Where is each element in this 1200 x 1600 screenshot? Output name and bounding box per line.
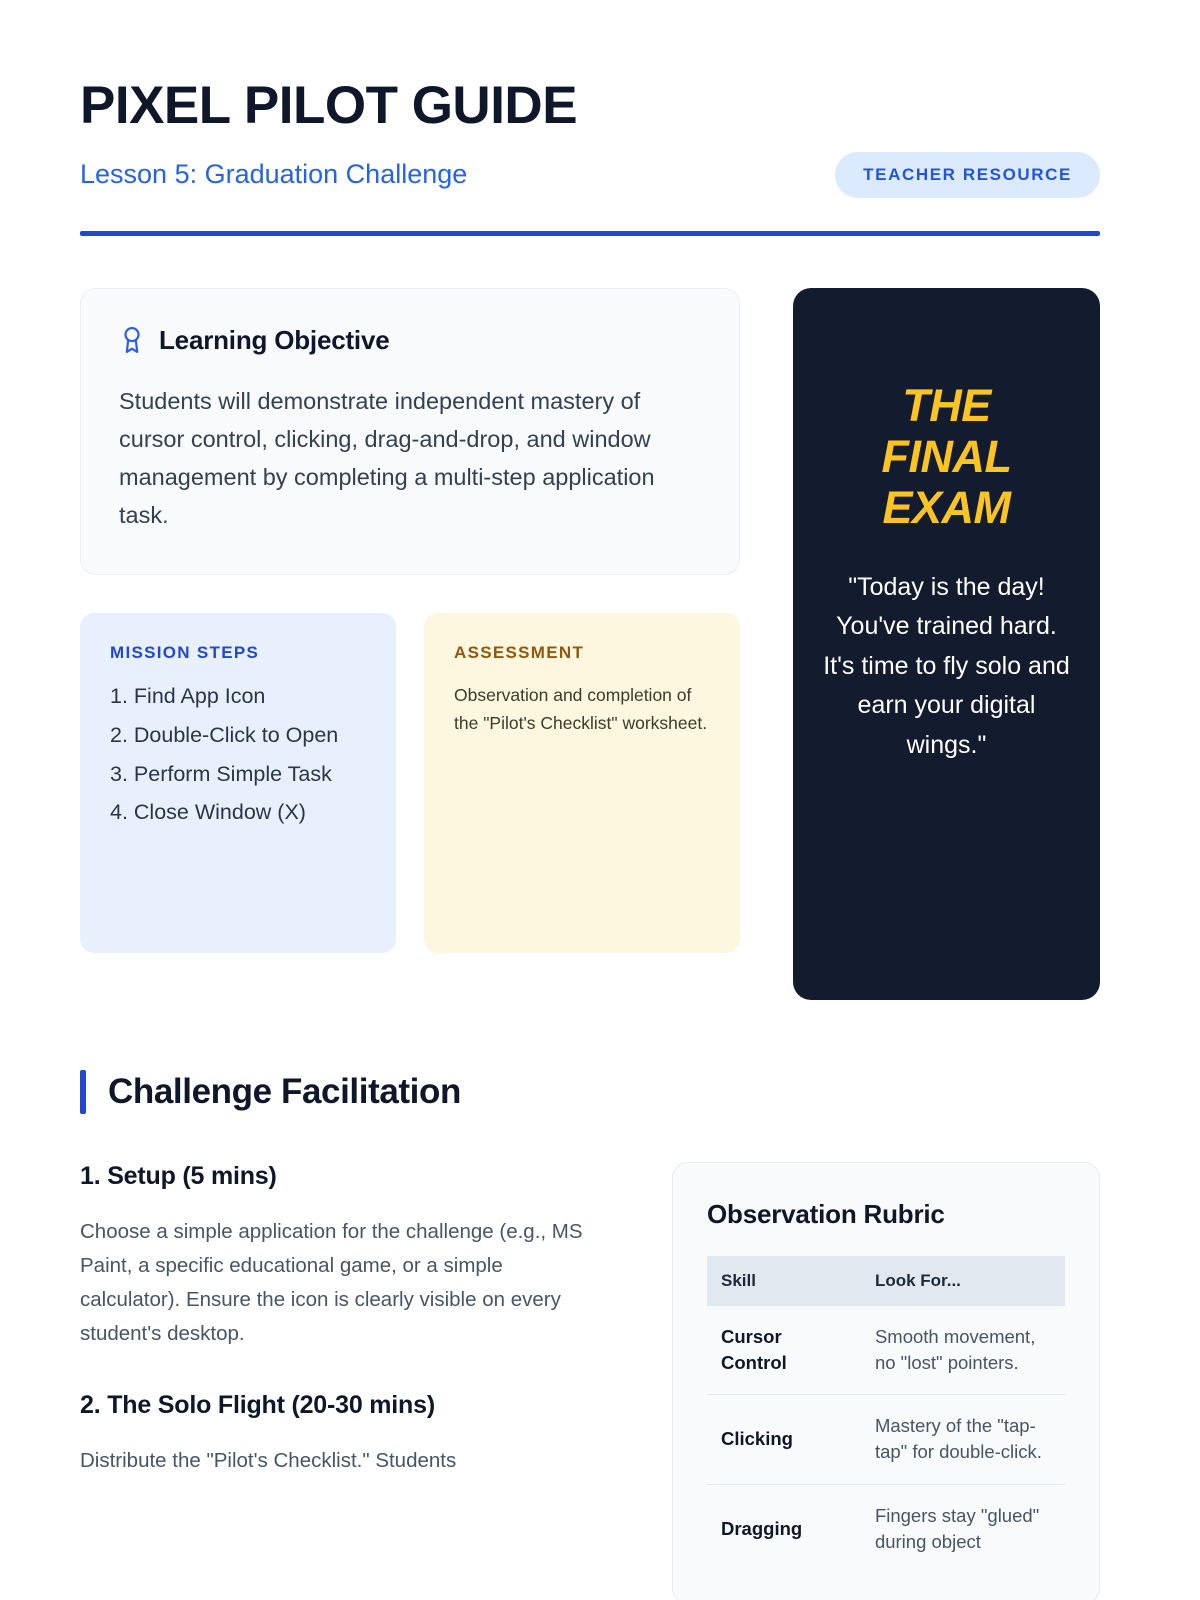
- table-row: Clicking Mastery of the "tap-tap" for do…: [707, 1395, 1065, 1485]
- lesson-subtitle: Lesson 5: Graduation Challenge: [80, 158, 467, 190]
- rubric-table: Skill Look For... Cursor Control Smooth …: [707, 1256, 1065, 1574]
- column-header-skill: Skill: [707, 1256, 861, 1306]
- list-item: 3. Perform Simple Task: [110, 759, 366, 791]
- section-title: Challenge Facilitation: [108, 1072, 461, 1112]
- final-exam-title-line-1: THE: [819, 380, 1074, 431]
- mission-steps-list: 1. Find App Icon 2. Double-Click to Open…: [110, 681, 366, 829]
- list-item: 4. Close Window (X): [110, 797, 366, 829]
- table-header-row: Skill Look For...: [707, 1256, 1065, 1306]
- facilitation-grid: 1. Setup (5 mins) Choose a simple applic…: [80, 1162, 1100, 1600]
- header-divider: [80, 231, 1100, 236]
- mission-steps-card: MISSION STEPS 1. Find App Icon 2. Double…: [80, 613, 396, 953]
- assessment-card: ASSESSMENT Observation and completion of…: [424, 613, 740, 953]
- facilitation-step: 1. Setup (5 mins) Choose a simple applic…: [80, 1162, 600, 1351]
- overview-right-column: THE FINAL EXAM "Today is the day! You've…: [793, 288, 1100, 1000]
- rubric-table-body: Cursor Control Smooth movement, no "lost…: [707, 1306, 1065, 1574]
- list-item: 1. Find App Icon: [110, 681, 366, 713]
- overview-grid: Learning Objective Students will demonst…: [80, 288, 1100, 1000]
- learning-objective-card: Learning Objective Students will demonst…: [80, 288, 740, 575]
- rubric-look-for: Mastery of the "tap-tap" for double-clic…: [861, 1395, 1065, 1485]
- rubric-column: Observation Rubric Skill Look For... Cur…: [672, 1162, 1100, 1600]
- rubric-title: Observation Rubric: [707, 1199, 1065, 1230]
- rubric-skill: Cursor Control: [707, 1306, 861, 1395]
- rubric-skill: Clicking: [707, 1395, 861, 1485]
- rubric-skill: Dragging: [707, 1484, 861, 1573]
- table-row: Cursor Control Smooth movement, no "lost…: [707, 1306, 1065, 1395]
- document-header: PIXEL PILOT GUIDE Lesson 5: Graduation C…: [80, 78, 1100, 236]
- award-icon: [119, 325, 145, 355]
- header-subtitle-row: Lesson 5: Graduation Challenge TEACHER R…: [80, 152, 1100, 198]
- table-row: Dragging Fingers stay "glued" during obj…: [707, 1484, 1065, 1573]
- page-title: PIXEL PILOT GUIDE: [80, 78, 1100, 134]
- rubric-look-for: Smooth movement, no "lost" pointers.: [861, 1306, 1065, 1395]
- section-accent-bar: [80, 1070, 86, 1114]
- rubric-look-for: Fingers stay "glued" during object: [861, 1484, 1065, 1573]
- facilitation-step-heading: 1. Setup (5 mins): [80, 1162, 600, 1191]
- final-exam-card: THE FINAL EXAM "Today is the day! You've…: [793, 288, 1100, 1000]
- final-exam-quote: "Today is the day! You've trained hard. …: [819, 568, 1074, 766]
- rubric-table-head: Skill Look For...: [707, 1256, 1065, 1306]
- column-header-look-for: Look For...: [861, 1256, 1065, 1306]
- learning-objective-header: Learning Objective: [119, 325, 701, 356]
- final-exam-title: THE FINAL EXAM: [819, 380, 1074, 534]
- facilitation-step: 2. The Solo Flight (20-30 mins) Distribu…: [80, 1391, 600, 1478]
- overview-left-column: Learning Objective Students will demonst…: [80, 288, 740, 1000]
- mission-steps-label: MISSION STEPS: [110, 643, 366, 663]
- facilitation-steps-column: 1. Setup (5 mins) Choose a simple applic…: [80, 1162, 600, 1478]
- final-exam-title-line-3: EXAM: [819, 482, 1074, 533]
- learning-objective-body: Students will demonstrate independent ma…: [119, 382, 701, 534]
- final-exam-title-line-2: FINAL: [819, 431, 1074, 482]
- facilitation-step-heading: 2. The Solo Flight (20-30 mins): [80, 1391, 600, 1420]
- facilitation-step-body: Distribute the "Pilot's Checklist." Stud…: [80, 1444, 600, 1478]
- facilitation-section-header: Challenge Facilitation: [80, 1070, 1100, 1114]
- assessment-text: Observation and completion of the "Pilot…: [454, 681, 710, 737]
- mini-cards-row: MISSION STEPS 1. Find App Icon 2. Double…: [80, 613, 740, 953]
- document-page: PIXEL PILOT GUIDE Lesson 5: Graduation C…: [0, 0, 1200, 1600]
- learning-objective-title: Learning Objective: [159, 325, 389, 356]
- teacher-resource-badge: TEACHER RESOURCE: [835, 152, 1100, 198]
- assessment-label: ASSESSMENT: [454, 643, 710, 663]
- facilitation-step-body: Choose a simple application for the chal…: [80, 1215, 600, 1351]
- list-item: 2. Double-Click to Open: [110, 720, 366, 752]
- observation-rubric-card: Observation Rubric Skill Look For... Cur…: [672, 1162, 1100, 1600]
